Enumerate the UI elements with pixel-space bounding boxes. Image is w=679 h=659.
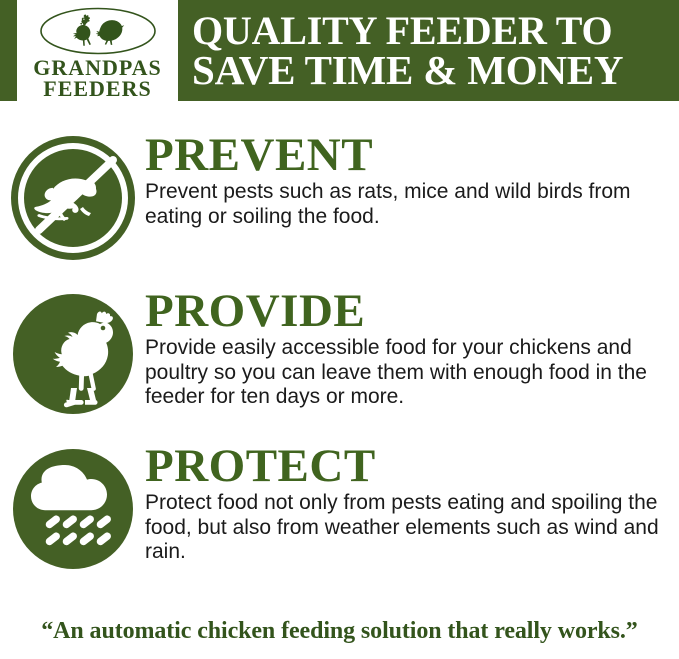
- feature-text-provide: PROVIDE Provide easily accessible food f…: [145, 290, 679, 410]
- feature-title-provide: PROVIDE: [145, 290, 665, 333]
- feature-body-prevent: Prevent pests such as rats, mice and wil…: [145, 180, 665, 229]
- header-title: QUALITY FEEDER TO SAVE TIME & MONEY: [178, 0, 679, 101]
- feature-body-provide: Provide easily accessible food for your …: [145, 336, 665, 410]
- feature-icon-wrap-provide: [0, 290, 145, 418]
- rain-cloud-icon: [9, 445, 137, 573]
- tagline: “An automatic chicken feeding solution t…: [0, 618, 679, 645]
- feature-item-protect: PROTECT Protect food not only from pests…: [0, 445, 679, 573]
- feature-item-provide: PROVIDE Provide easily accessible food f…: [0, 290, 679, 418]
- feature-text-protect: PROTECT Protect food not only from pests…: [145, 445, 679, 565]
- chicken-icon: [9, 290, 137, 418]
- feature-title-protect: PROTECT: [145, 445, 665, 488]
- header-left-accent-bar: [0, 0, 17, 101]
- feature-title-prevent: PREVENT: [145, 134, 665, 177]
- brand-logo-line1: GRANDPAS: [33, 57, 162, 78]
- feature-item-prevent: PREVENT Prevent pests such as rats, mice…: [0, 134, 679, 262]
- rooster-and-hen-oval-icon: [39, 7, 157, 55]
- feature-icon-wrap-prevent: [0, 134, 145, 262]
- brand-logo-text: GRANDPAS FEEDERS: [33, 57, 162, 99]
- feature-body-protect: Protect food not only from pests eating …: [145, 491, 665, 565]
- header-title-line1: QUALITY FEEDER TO: [192, 11, 673, 50]
- brand-logo-line2: FEEDERS: [33, 78, 162, 99]
- no-rodent-icon: [9, 134, 137, 262]
- header-title-line2: SAVE TIME & MONEY: [192, 50, 673, 90]
- header-banner: GRANDPAS FEEDERS QUALITY FEEDER TO SAVE …: [0, 0, 679, 101]
- feature-icon-wrap-protect: [0, 445, 145, 573]
- brand-logo: GRANDPAS FEEDERS: [17, 0, 178, 101]
- feature-text-prevent: PREVENT Prevent pests such as rats, mice…: [145, 134, 679, 229]
- feature-list: PREVENT Prevent pests such as rats, mice…: [0, 101, 679, 573]
